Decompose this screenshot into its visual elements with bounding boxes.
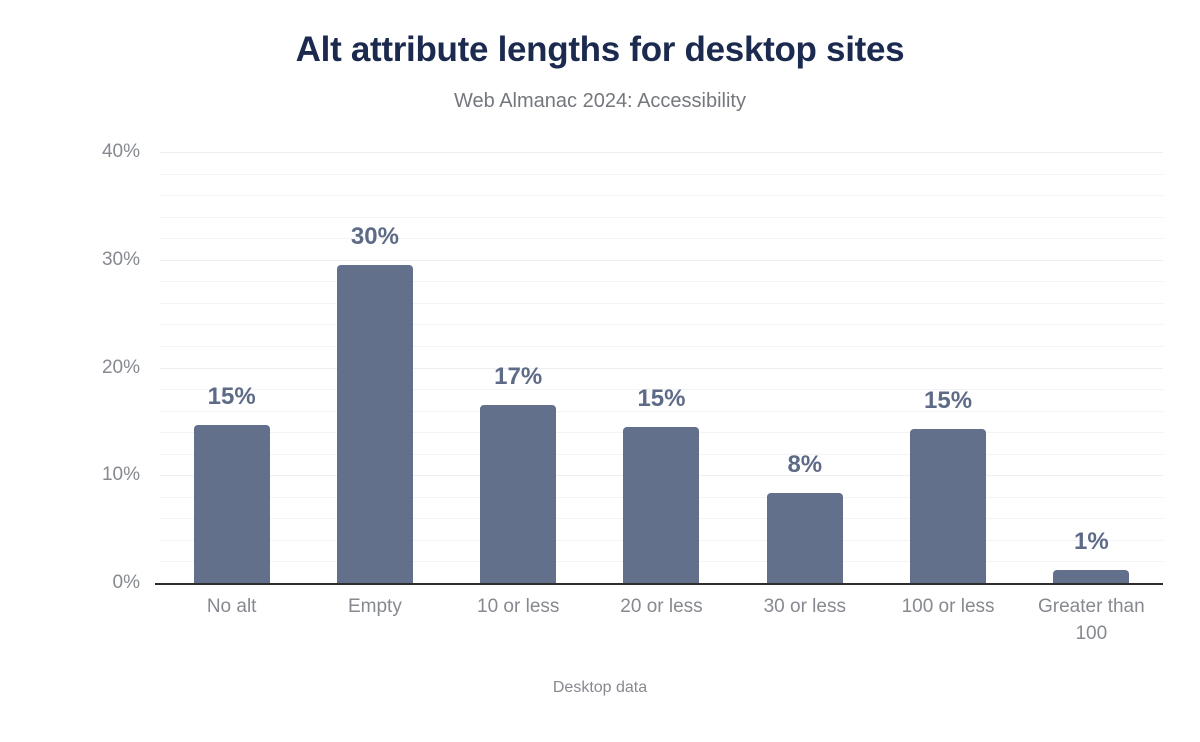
bar-group[interactable]: 15% [876,152,1019,583]
bar-group[interactable]: 30% [303,152,446,583]
x-tick-label: 30 or less [733,593,876,620]
x-axis-baseline [155,583,1163,585]
bar[interactable] [194,425,270,583]
bar[interactable] [623,427,699,583]
bar-group[interactable]: 17% [447,152,590,583]
x-tick-label: Empty [303,593,446,620]
bar-value-label: 30% [351,223,399,251]
x-tick-label: No alt [160,593,303,620]
bars-layer: 15%30%17%15%8%15%1% [160,152,1163,583]
bar[interactable] [480,405,556,583]
y-tick-label: 10% [30,464,140,486]
bar[interactable] [767,493,843,584]
chart-title: Alt attribute lengths for desktop sites [0,30,1200,70]
bar-value-label: 15% [208,383,256,411]
bar-group[interactable]: 15% [160,152,303,583]
bar-value-label: 15% [924,387,972,415]
x-tick-label: 20 or less [590,593,733,620]
bar-value-label: 8% [787,451,822,479]
x-tick-label: 10 or less [447,593,590,620]
bar-group[interactable]: 15% [590,152,733,583]
bar-group[interactable]: 8% [733,152,876,583]
y-tick-label: 20% [30,357,140,379]
y-tick-label: 40% [30,141,140,163]
y-tick-label: 0% [30,572,140,594]
bar-value-label: 17% [494,363,542,391]
y-tick-label: 30% [30,249,140,271]
x-axis-title: Desktop data [0,679,1200,697]
bar-group[interactable]: 1% [1020,152,1163,583]
bar-value-label: 15% [637,385,685,413]
bar[interactable] [1053,570,1129,583]
bar-value-label: 1% [1074,528,1109,556]
chart-subtitle: Web Almanac 2024: Accessibility [0,90,1200,113]
bar[interactable] [910,429,986,583]
bar-chart: Alt attribute lengths for desktop sites … [0,0,1200,742]
x-tick-label: Greater than 100 [1020,593,1163,647]
x-axis-tick-labels: No altEmpty10 or less20 or less30 or les… [160,593,1163,663]
y-axis-tick-labels: 0%10%20%30%40% [30,0,140,742]
x-tick-label: 100 or less [876,593,1019,620]
bar[interactable] [337,265,413,583]
